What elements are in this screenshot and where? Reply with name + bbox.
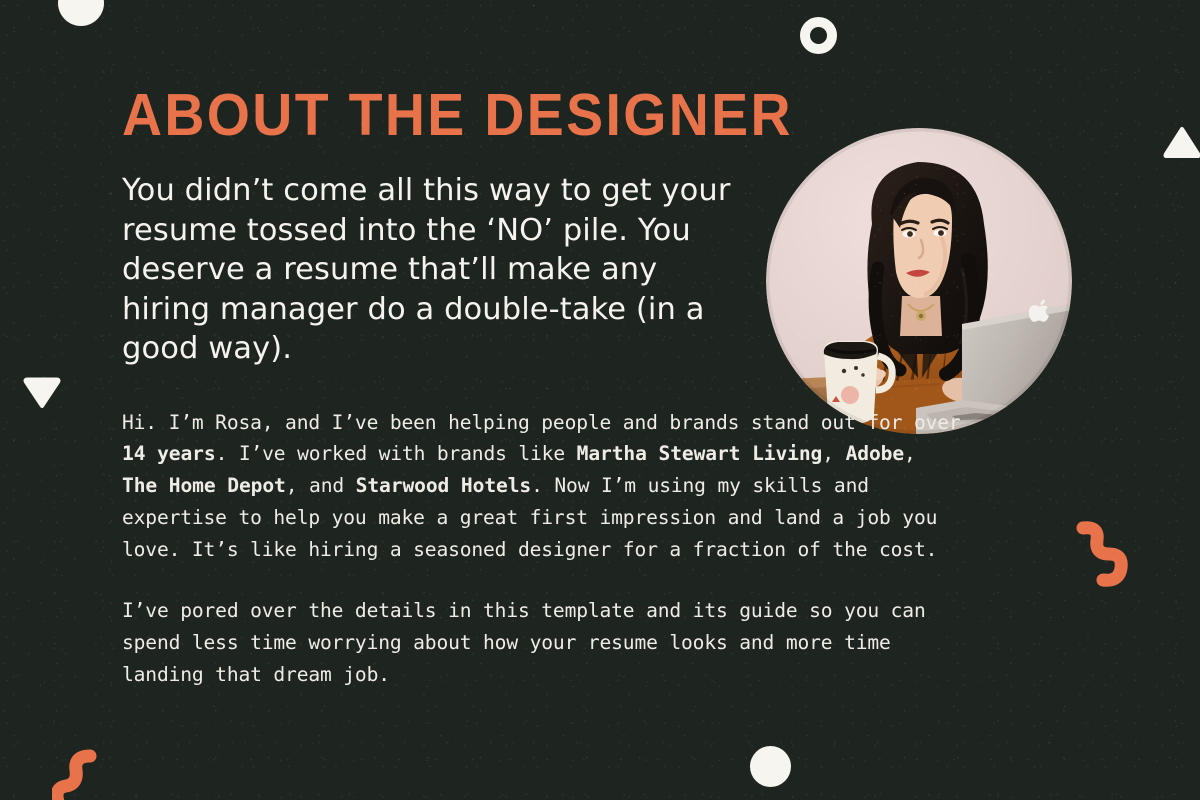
body-text-run: , and [286,474,356,497]
brand-name-bold: The Home Depot [122,474,286,497]
ring-top-center-icon [800,17,837,54]
brand-name-bold: Martha Stewart Living [577,442,823,465]
circle-bottom-icon [750,746,791,787]
brand-name-bold: 14 years [122,442,216,465]
triangle-right-up-icon [1163,126,1200,158]
squiggle-right-icon [1073,518,1135,590]
brand-name-bold: Adobe [846,442,904,465]
brand-name-bold: Starwood Hotels [356,474,531,497]
body-text-run: . I’ve worked with brands like [216,442,577,465]
body-text-run: , [904,442,916,465]
body-paragraph-1: Hi. I’m Rosa, and I’ve been helping peop… [122,407,962,566]
body-text-run: , [822,442,845,465]
triangle-left-down-icon [22,374,62,410]
body-text-run: Hi. I’m Rosa, and I’ve been helping peop… [122,411,961,434]
squiggle-bottom-left-icon [52,748,110,800]
page-title: ABOUT THE DESIGNER [122,86,930,145]
lead-paragraph: You didn’t come all this way to get your… [122,171,752,369]
body-paragraph-2: I’ve pored over the details in this temp… [122,595,962,690]
about-the-designer-slide: ABOUT THE DESIGNER You didn’t come all t… [0,0,1200,800]
circle-top-left-icon [58,0,104,26]
text-column: ABOUT THE DESIGNER You didn’t come all t… [122,86,982,691]
